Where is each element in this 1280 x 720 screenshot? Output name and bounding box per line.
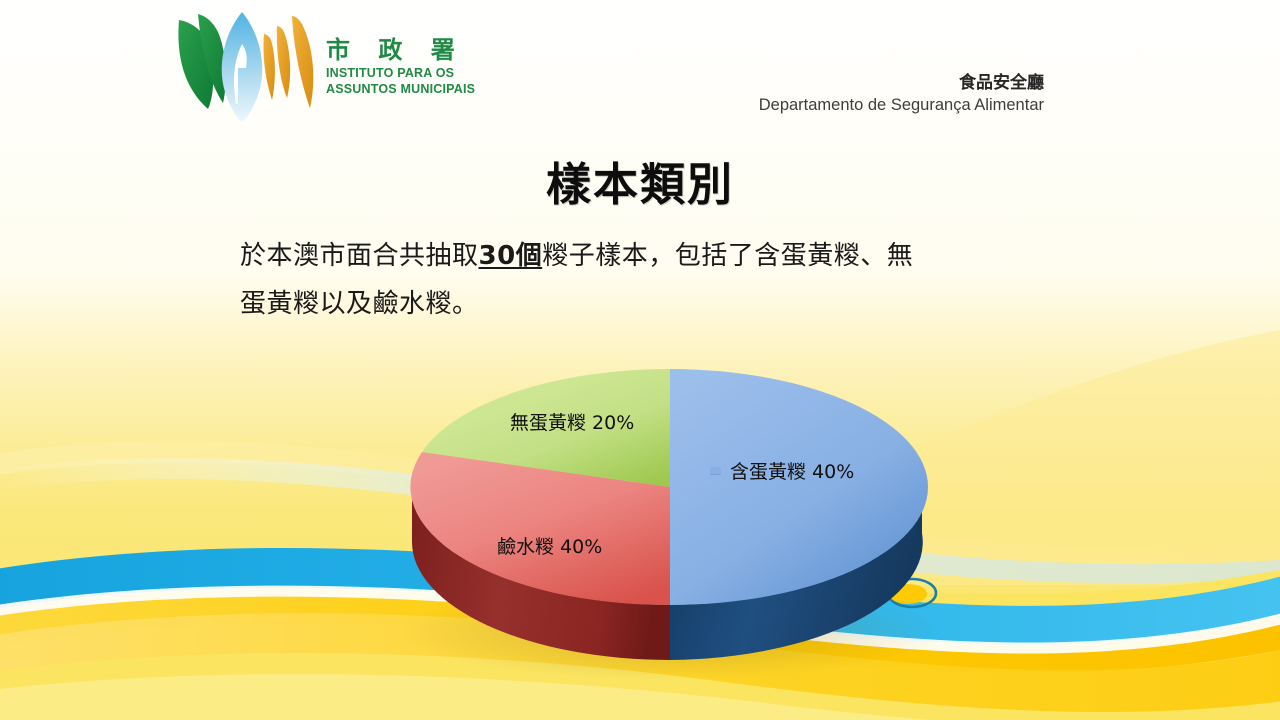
legend-marker-icon: [710, 467, 721, 474]
body-text-before: 於本澳市面合共抽取: [240, 241, 479, 271]
iam-lotus-logo-icon: [168, 8, 320, 126]
body-text-highlight: 30個: [479, 241, 543, 271]
pie-label-green: 無蛋黃糉 20%: [510, 408, 634, 435]
page-title: 樣本類別: [0, 148, 1280, 213]
slide-canvas: 市 政 署 INSTITUTO PARA OS ASSUNTOS MUNICIP…: [0, 0, 1280, 720]
pie-label-blue-text: 含蛋黃糉 40%: [730, 457, 854, 484]
iam-logo: 市 政 署 INSTITUTO PARA OS ASSUNTOS MUNICIP…: [168, 8, 475, 126]
department-header: 食品安全廳 Departamento de Segurança Alimenta…: [759, 72, 1044, 116]
pie-label-red: 鹼水糉 40%: [497, 532, 602, 559]
pie-chart: [380, 352, 960, 682]
body-text-after: 糉子樣本，包括了含蛋黃糉、無: [542, 241, 913, 271]
logo-name-cn: 市 政 署: [326, 36, 475, 65]
department-name-pt: Departamento de Segurança Alimentar: [759, 94, 1044, 116]
pie-label-blue: 含蛋黃糉 40%: [710, 457, 854, 484]
body-text-line2: 蛋黃糉以及鹼水糉。: [240, 289, 479, 319]
body-paragraph: 於本澳市面合共抽取30個糉子樣本，包括了含蛋黃糉、無 蛋黃糉以及鹼水糉。: [240, 232, 1070, 328]
department-name-cn: 食品安全廳: [759, 72, 1044, 95]
logo-name-pt-line2: ASSUNTOS MUNICIPAIS: [326, 82, 475, 97]
logo-name-pt-line1: INSTITUTO PARA OS: [326, 66, 475, 81]
